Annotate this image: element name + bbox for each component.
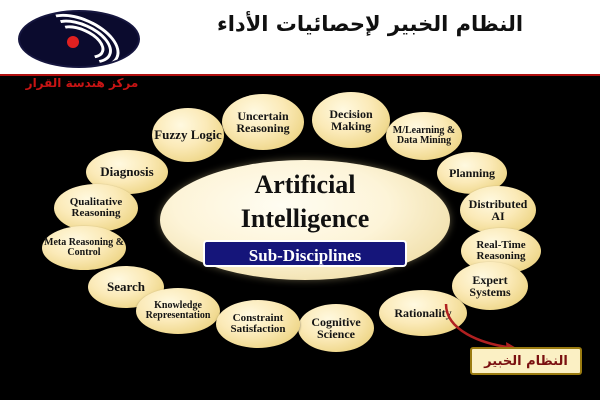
- center-node: Artificial Intelligence Sub-Disciplines: [160, 160, 450, 280]
- discipline-node-label: Decision Making: [314, 108, 388, 133]
- discipline-node-label: Search: [90, 280, 162, 293]
- organization-logo: [18, 10, 138, 65]
- discipline-node[interactable]: Cognitive Science: [298, 304, 374, 352]
- page-title: النظام الخبير لإحصائيات الأداء: [150, 12, 590, 36]
- discipline-node[interactable]: Meta Reasoning & Control: [42, 226, 126, 270]
- discipline-node-label: Distributed AI: [462, 198, 534, 223]
- center-title-line2: Intelligence: [160, 204, 450, 234]
- discipline-node[interactable]: Knowledge Representation: [136, 288, 220, 334]
- discipline-node-label: Constraint Satisfaction: [218, 313, 298, 336]
- discipline-node[interactable]: Uncertain Reasoning: [222, 94, 304, 150]
- slide-canvas: مركز هندسة القرار النظام الخبير لإحصائيا…: [0, 0, 600, 400]
- discipline-node-label: Qualitative Reasoning: [56, 197, 136, 220]
- discipline-node[interactable]: Decision Making: [312, 92, 390, 148]
- discipline-node-label: M/Learning & Data Mining: [388, 126, 460, 147]
- discipline-node-label: Uncertain Reasoning: [224, 110, 302, 135]
- discipline-node-label: Fuzzy Logic: [154, 128, 222, 141]
- discipline-node[interactable]: Distributed AI: [460, 186, 536, 234]
- discipline-node[interactable]: M/Learning & Data Mining: [386, 112, 462, 160]
- organization-name: مركز هندسة القرار: [12, 76, 152, 90]
- discipline-node-label: Cognitive Science: [300, 316, 372, 341]
- discipline-node-label: Knowledge Representation: [138, 301, 218, 322]
- discipline-node-label: Expert Systems: [454, 274, 526, 299]
- discipline-node[interactable]: Qualitative Reasoning: [54, 184, 138, 232]
- discipline-node[interactable]: Fuzzy Logic: [152, 108, 224, 162]
- expert-system-callout: النظام الخبير: [470, 347, 582, 375]
- center-title-line1: Artificial: [160, 170, 450, 200]
- sub-disciplines-badge: Sub-Disciplines: [203, 240, 407, 267]
- discipline-node-label: Diagnosis: [88, 165, 166, 178]
- discipline-node-label: Real-Time Reasoning: [463, 240, 539, 263]
- discipline-node-label: Meta Reasoning & Control: [44, 238, 124, 259]
- discipline-node-label: Planning: [439, 167, 505, 179]
- oval-swoosh-logo-icon: [18, 10, 140, 68]
- discipline-node[interactable]: Constraint Satisfaction: [216, 300, 300, 348]
- logo-red-dot-icon: [67, 36, 79, 48]
